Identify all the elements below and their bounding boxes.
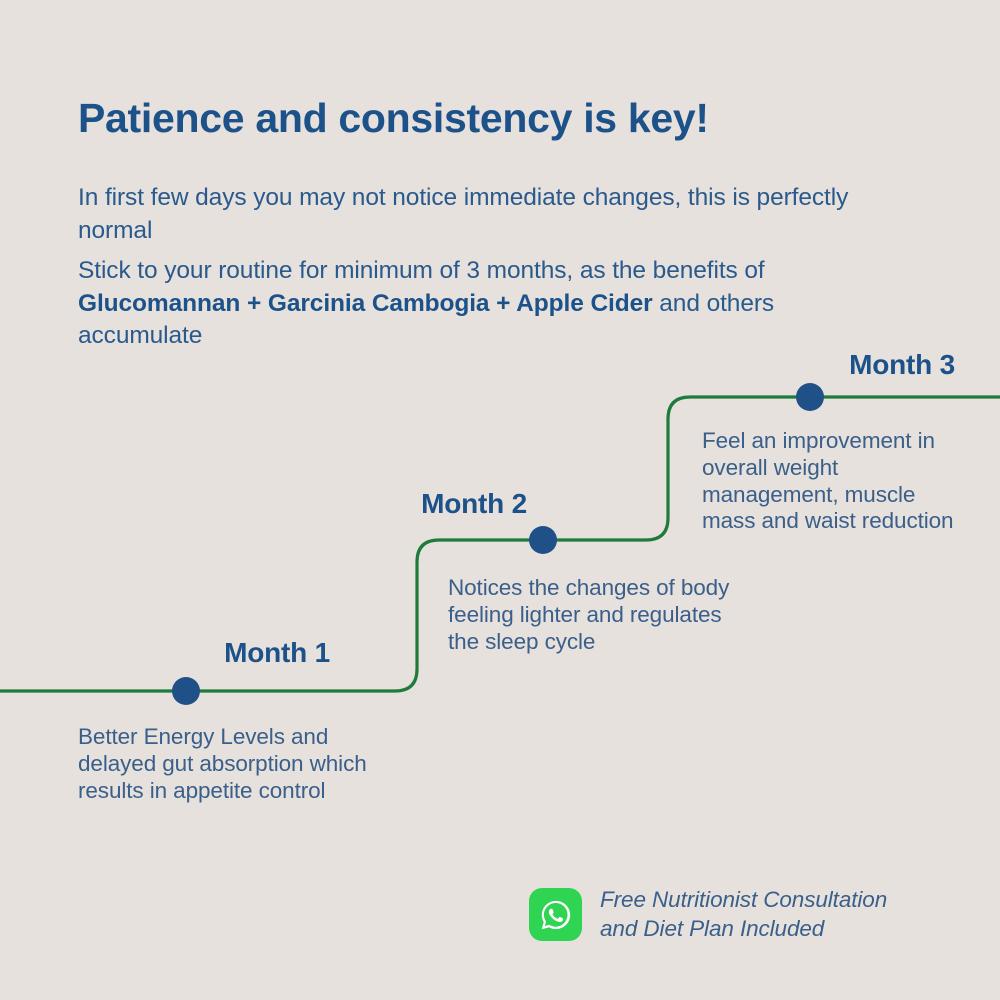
free-consultation-text: Free Nutritionist Consultation and Diet … [598, 886, 887, 944]
timeline-node-month-2-label: Month 2 [421, 488, 527, 520]
whatsapp-icon[interactable] [529, 888, 582, 941]
intro-paragraph-2: Stick to your routine for minimum of 3 m… [78, 255, 890, 353]
timeline-node-month-1-dot[interactable] [172, 677, 200, 705]
timeline-node-month-3-dot[interactable] [796, 383, 824, 411]
free-consultation-badge[interactable]: Free Nutritionist Consultation and Diet … [529, 886, 887, 944]
intro-paragraph-1: In first few days you may not notice imm… [78, 182, 878, 247]
timeline-node-month-2-description: Notices the changes of body feeling ligh… [448, 575, 733, 655]
timeline-node-month-3-description: Feel an improvement in overall weight ma… [702, 428, 967, 535]
page-title: Patience and consistency is key! [78, 96, 938, 142]
infographic-canvas: Patience and consistency is key! In firs… [0, 0, 1000, 1000]
timeline-node-month-3-label: Month 3 [849, 349, 955, 381]
intro-paragraph-2-lead: Stick to your routine for minimum of 3 m… [78, 257, 765, 284]
ingredient-list: Glucomannan + Garcinia Cambogia + Apple … [78, 290, 653, 317]
timeline-node-month-1-label: Month 1 [224, 637, 330, 669]
timeline-node-month-2-dot[interactable] [529, 526, 557, 554]
timeline-node-month-1-description: Better Energy Levels and delayed gut abs… [78, 724, 408, 804]
